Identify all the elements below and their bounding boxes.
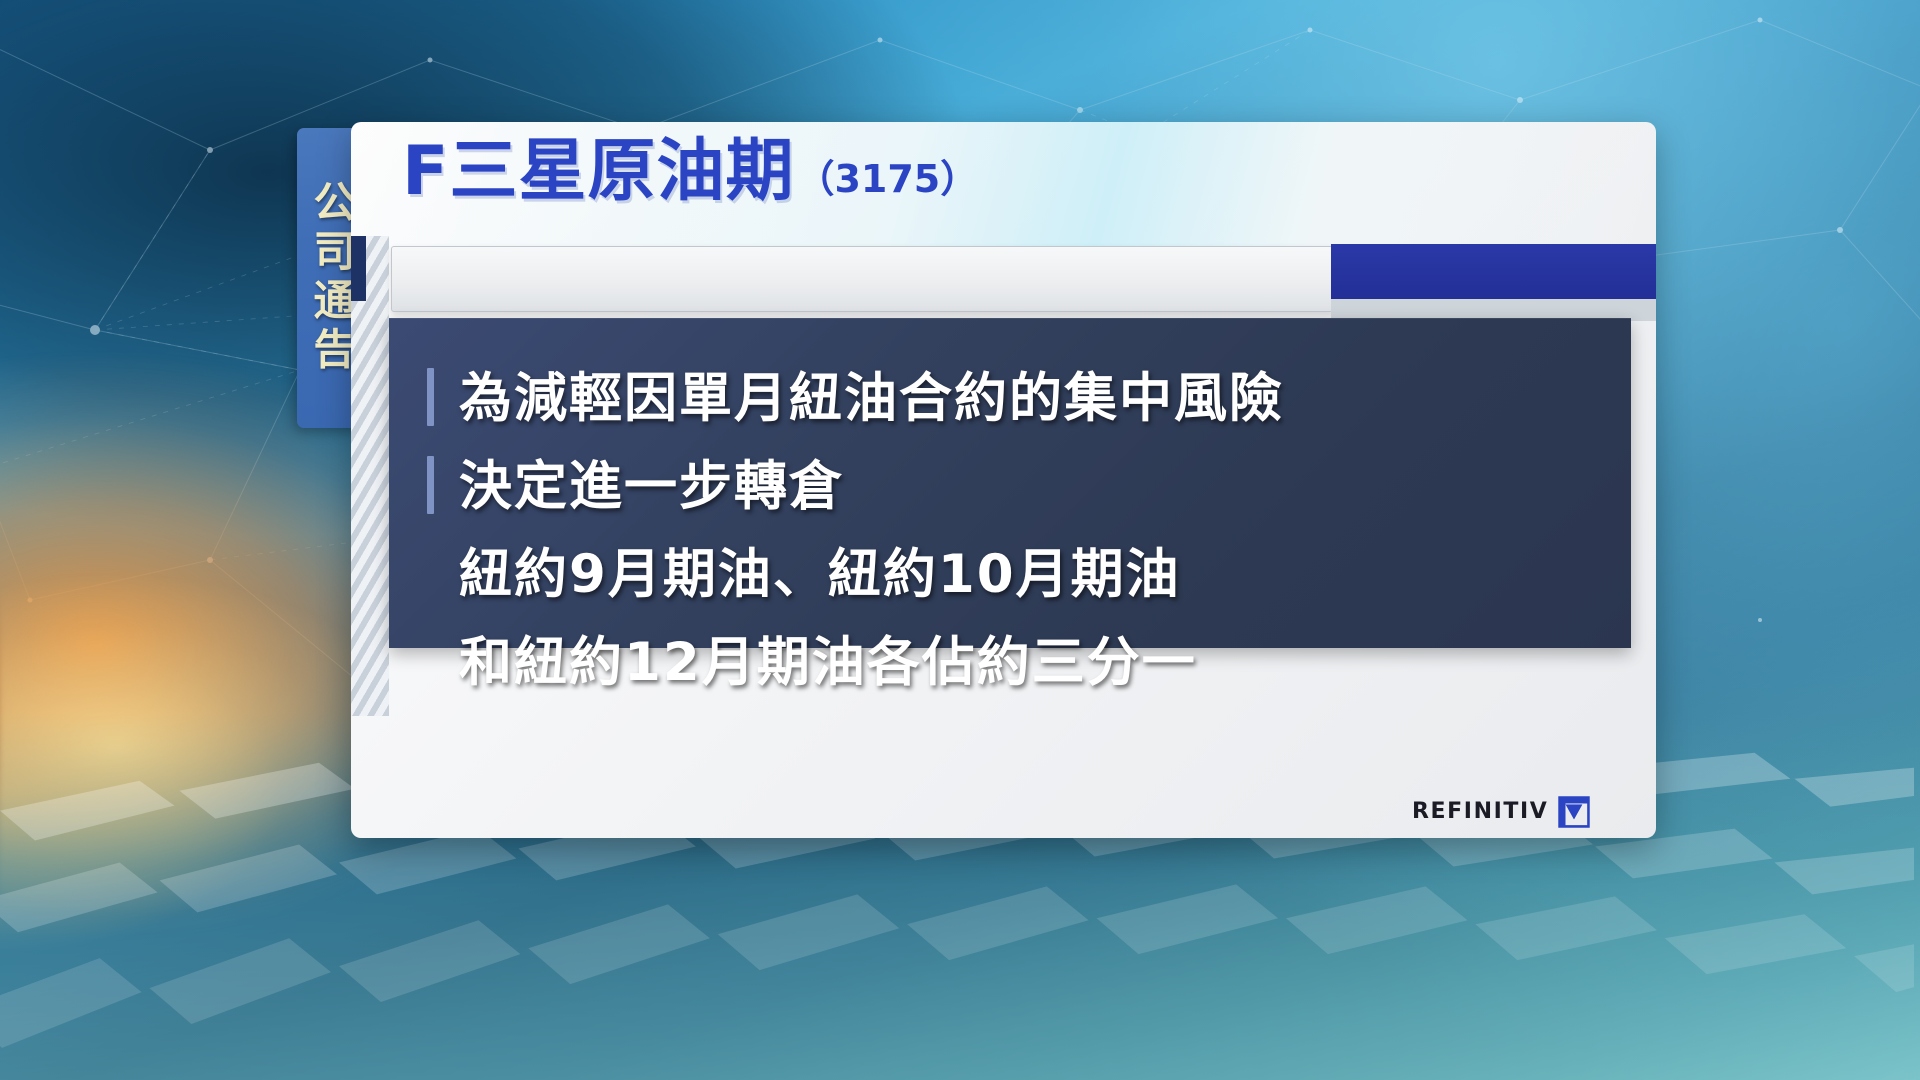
line-marker-icon	[427, 368, 434, 426]
page-title: F三星原油期 （3175）	[402, 138, 978, 206]
security-code: （3175）	[796, 160, 978, 198]
announcement-line: 紐約9月期油、紐約10月期油	[427, 530, 1631, 618]
category-tab-label: 公司通告	[310, 180, 352, 376]
security-name: F三星原油期	[402, 138, 794, 206]
announcement-line-text: 為減輕因單月紐油合約的集中風險	[459, 372, 1284, 425]
announcement-line-text: 決定進一步轉倉	[459, 460, 844, 513]
broadcast-graphic-screen: 公司通告 F三星原油期 （3175） 為減輕因單月紐油合約的集中風險 決定進一步…	[0, 0, 1920, 1080]
subtitle-bar	[391, 246, 1333, 312]
provider-name: REFINITIV	[1412, 801, 1548, 823]
decorative-stripe-strip	[351, 236, 389, 716]
data-provider-branding: REFINITIV	[1412, 795, 1591, 829]
announcement-line: 決定進一步轉倉	[427, 442, 1631, 530]
announcement-line-text: 紐約9月期油、紐約10月期油	[459, 548, 1181, 601]
announcement-lines: 為減輕因單月紐油合約的集中風險 決定進一步轉倉 紐約9月期油、紐約10月期油 和…	[389, 318, 1631, 706]
refinitiv-arrow-mark-icon	[1557, 795, 1591, 829]
announcement-panel: 為減輕因單月紐油合約的集中風險 決定進一步轉倉 紐約9月期油、紐約10月期油 和…	[389, 318, 1631, 648]
announcement-line: 和紐約12月期油各佔約三分一	[427, 618, 1631, 706]
announcement-line: 為減輕因單月紐油合約的集中風險	[427, 354, 1631, 442]
announcement-line-text: 和紐約12月期油各佔約三分一	[459, 636, 1197, 689]
line-marker-icon	[427, 456, 434, 514]
decorative-dark-block	[351, 236, 366, 301]
accent-block	[1331, 244, 1656, 299]
